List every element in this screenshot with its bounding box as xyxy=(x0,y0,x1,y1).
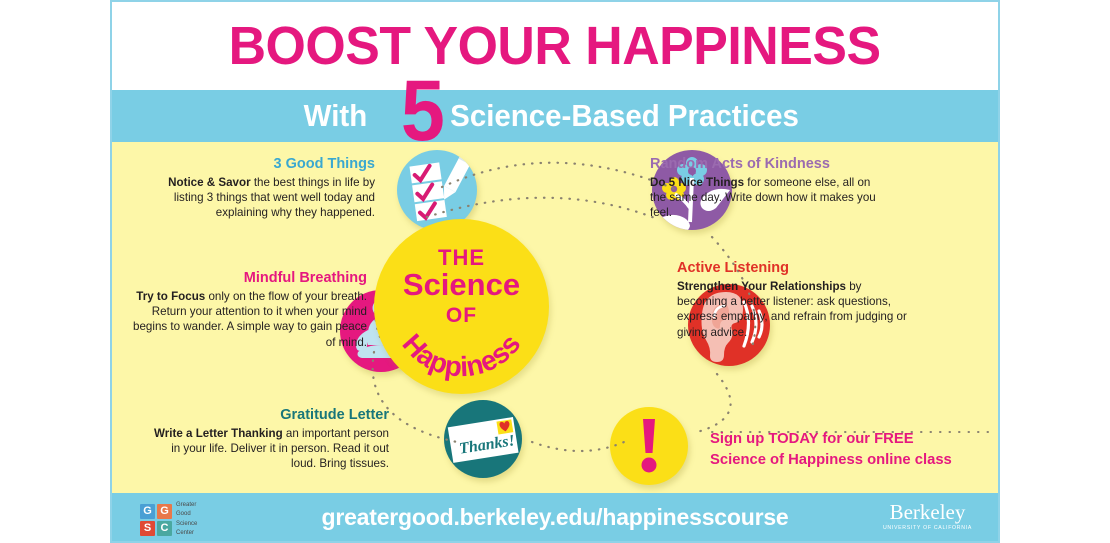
center-line-happiness: Happiness xyxy=(396,328,526,383)
practice-lead: Do 5 Nice Things xyxy=(650,176,744,189)
practice-title: Active Listening xyxy=(677,260,912,277)
berkeley-wordmark: Berkeley xyxy=(883,502,972,523)
practice-description: Do 5 Nice Things for someone else, all o… xyxy=(650,175,885,221)
practice-description: Write a Letter Thanking an important per… xyxy=(154,426,389,472)
cta-line-1: Sign up TODAY for our FREE xyxy=(710,429,990,450)
practice-three-good-things: 3 Good Things Notice & Savor the best th… xyxy=(140,156,375,221)
page-title: BOOST YOUR HAPPINESS xyxy=(229,19,881,73)
title-band: BOOST YOUR HAPPINESS xyxy=(112,2,998,90)
cta-text: Sign up TODAY for our FREE Science of Ha… xyxy=(710,429,990,471)
practice-random-acts-of-kindness: Random Acts of Kindness Do 5 Nice Things… xyxy=(650,156,885,221)
practice-active-listening: Active Listening Strengthen Your Relatio… xyxy=(677,260,912,340)
practice-lead: Strengthen Your Relationships xyxy=(677,280,846,293)
practice-title: Mindful Breathing xyxy=(132,270,367,287)
footer-bar: G G S C Greater Good Science Center grea… xyxy=(112,493,998,541)
subtitle-band: With Science-Based Practices xyxy=(112,90,998,142)
practice-gratitude-letter: Gratitude Letter Write a Letter Thanking… xyxy=(154,407,389,472)
practice-lead: Write a Letter Thanking xyxy=(154,427,283,440)
practice-title: 3 Good Things xyxy=(140,156,375,173)
subtitle-after: Science-Based Practices xyxy=(450,98,799,134)
practice-lead: Try to Focus xyxy=(136,290,205,303)
center-badge: THE Science OF Happiness xyxy=(374,219,549,394)
number-five: 5 xyxy=(401,68,445,154)
cta-line-2: Science of Happiness online class xyxy=(710,450,990,471)
practice-description: Notice & Savor the best things in life b… xyxy=(140,175,375,221)
svg-text:Happiness: Happiness xyxy=(396,328,526,383)
practices-area: THE Science OF Happiness 3 Good Things N… xyxy=(112,142,998,497)
center-line-happiness-arc: Happiness xyxy=(374,219,549,394)
subtitle-before: With xyxy=(304,98,368,134)
practice-description: Try to Focus only on the flow of your br… xyxy=(132,289,367,351)
practice-title: Gratitude Letter xyxy=(154,407,389,424)
practice-mindful-breathing: Mindful Breathing Try to Focus only on t… xyxy=(132,270,367,350)
infographic-poster: BOOST YOUR HAPPINESS With Science-Based … xyxy=(110,0,1000,543)
berkeley-subtitle: UNIVERSITY OF CALIFORNIA xyxy=(883,525,972,531)
practice-description: Strengthen Your Relationships by becomin… xyxy=(677,279,912,341)
berkeley-logo: Berkeley UNIVERSITY OF CALIFORNIA xyxy=(883,502,972,531)
practice-title: Random Acts of Kindness xyxy=(650,156,885,173)
practice-lead: Notice & Savor xyxy=(168,176,250,189)
footer-url[interactable]: greatergood.berkeley.edu/happinesscourse xyxy=(112,504,998,531)
